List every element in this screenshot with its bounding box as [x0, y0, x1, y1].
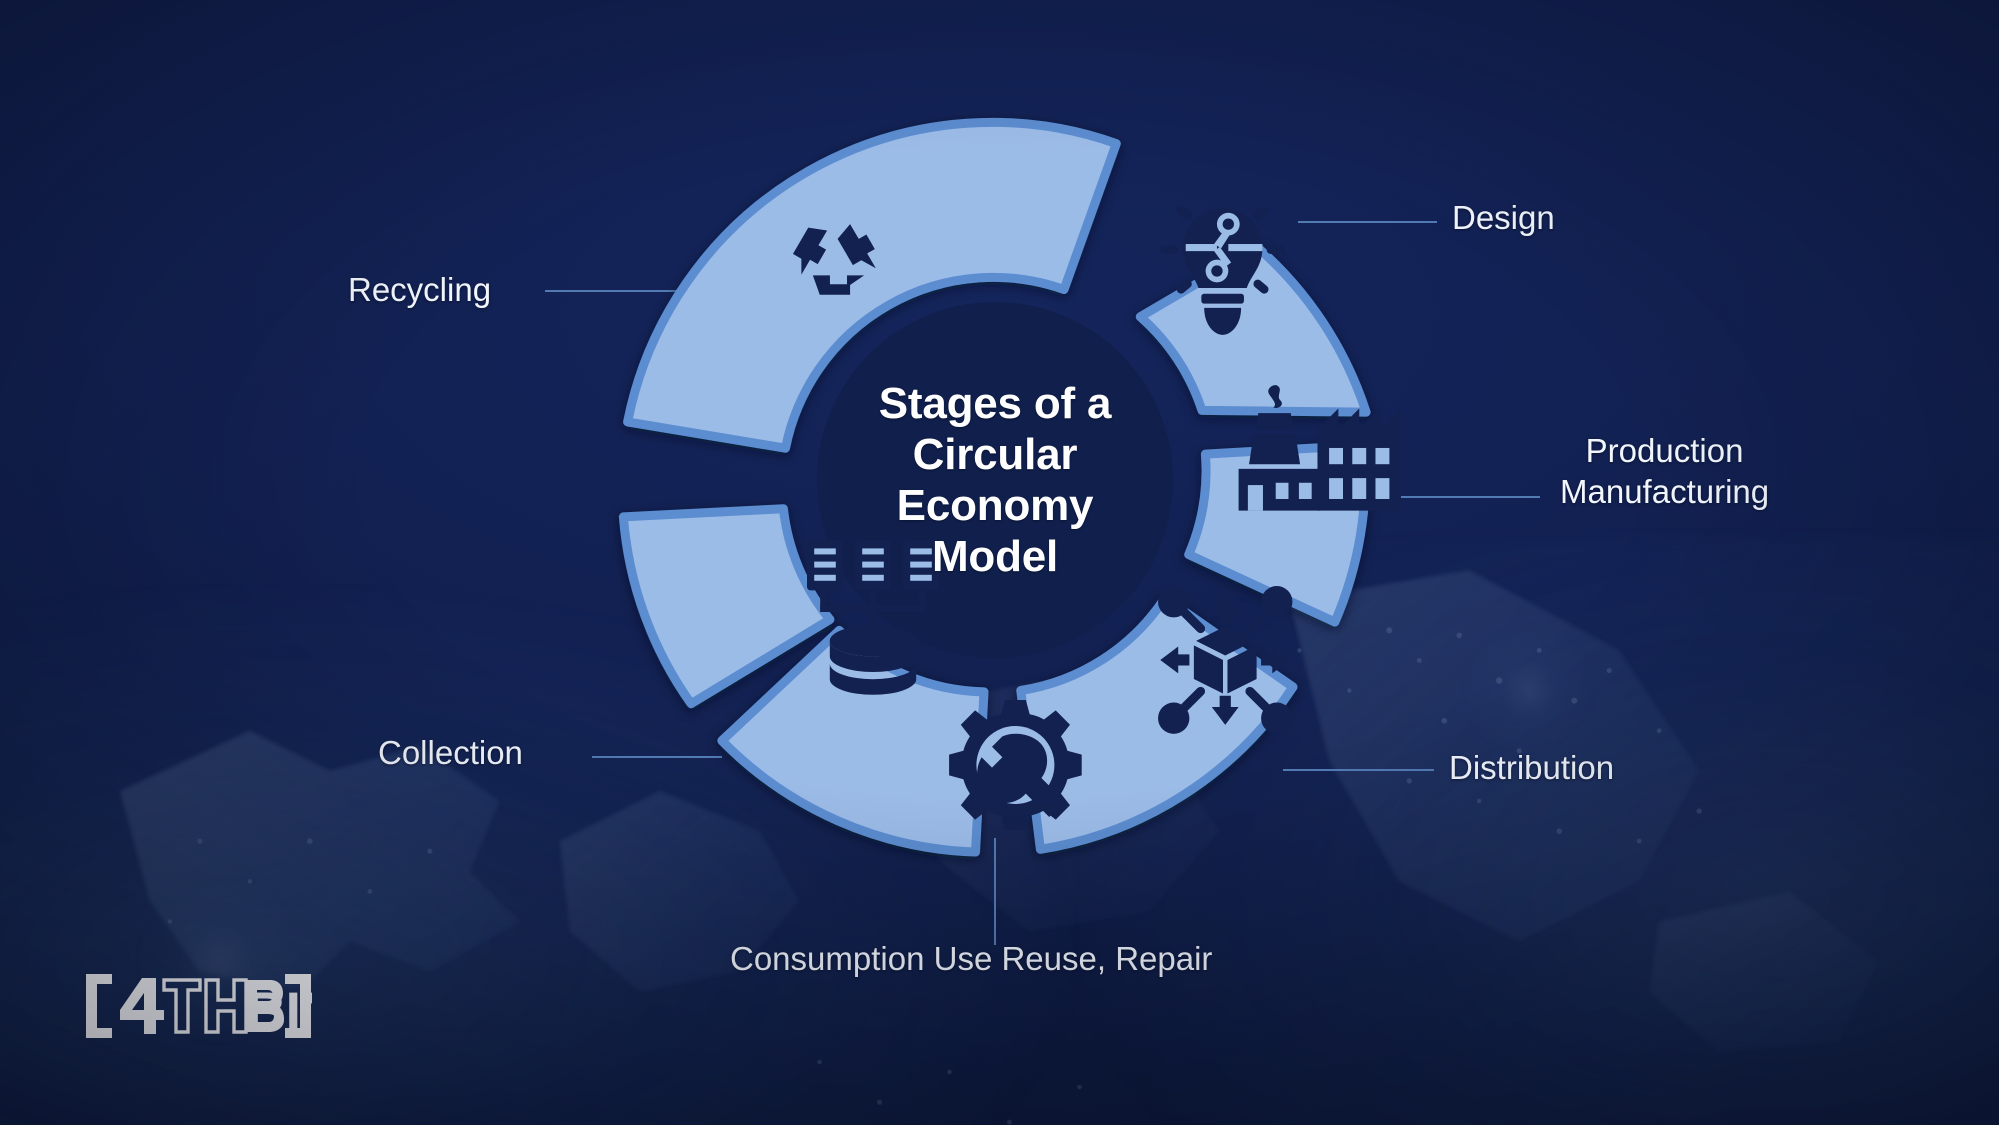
- gear-wrench-icon: [949, 700, 1082, 830]
- label-collection[interactable]: Collection: [378, 733, 523, 774]
- label-distribution[interactable]: Distribution: [1449, 748, 1614, 789]
- logo-chars-th: [164, 980, 246, 1032]
- label-production[interactable]: Production Manufacturing: [1560, 431, 1769, 513]
- infographic-canvas: Stages of a Circular Economy Model Desig…: [0, 0, 1999, 1125]
- logo-bracket-left: [86, 974, 112, 1038]
- label-consumption[interactable]: Consumption Use Reuse, Repair: [730, 939, 1212, 980]
- brand-logo-4thbin[interactable]: BIN: [86, 974, 312, 1038]
- label-recycling[interactable]: Recycling: [348, 270, 491, 311]
- circular-economy-wheel: [615, 100, 1375, 860]
- label-design[interactable]: Design: [1452, 198, 1555, 239]
- logo-char-4: [120, 978, 164, 1034]
